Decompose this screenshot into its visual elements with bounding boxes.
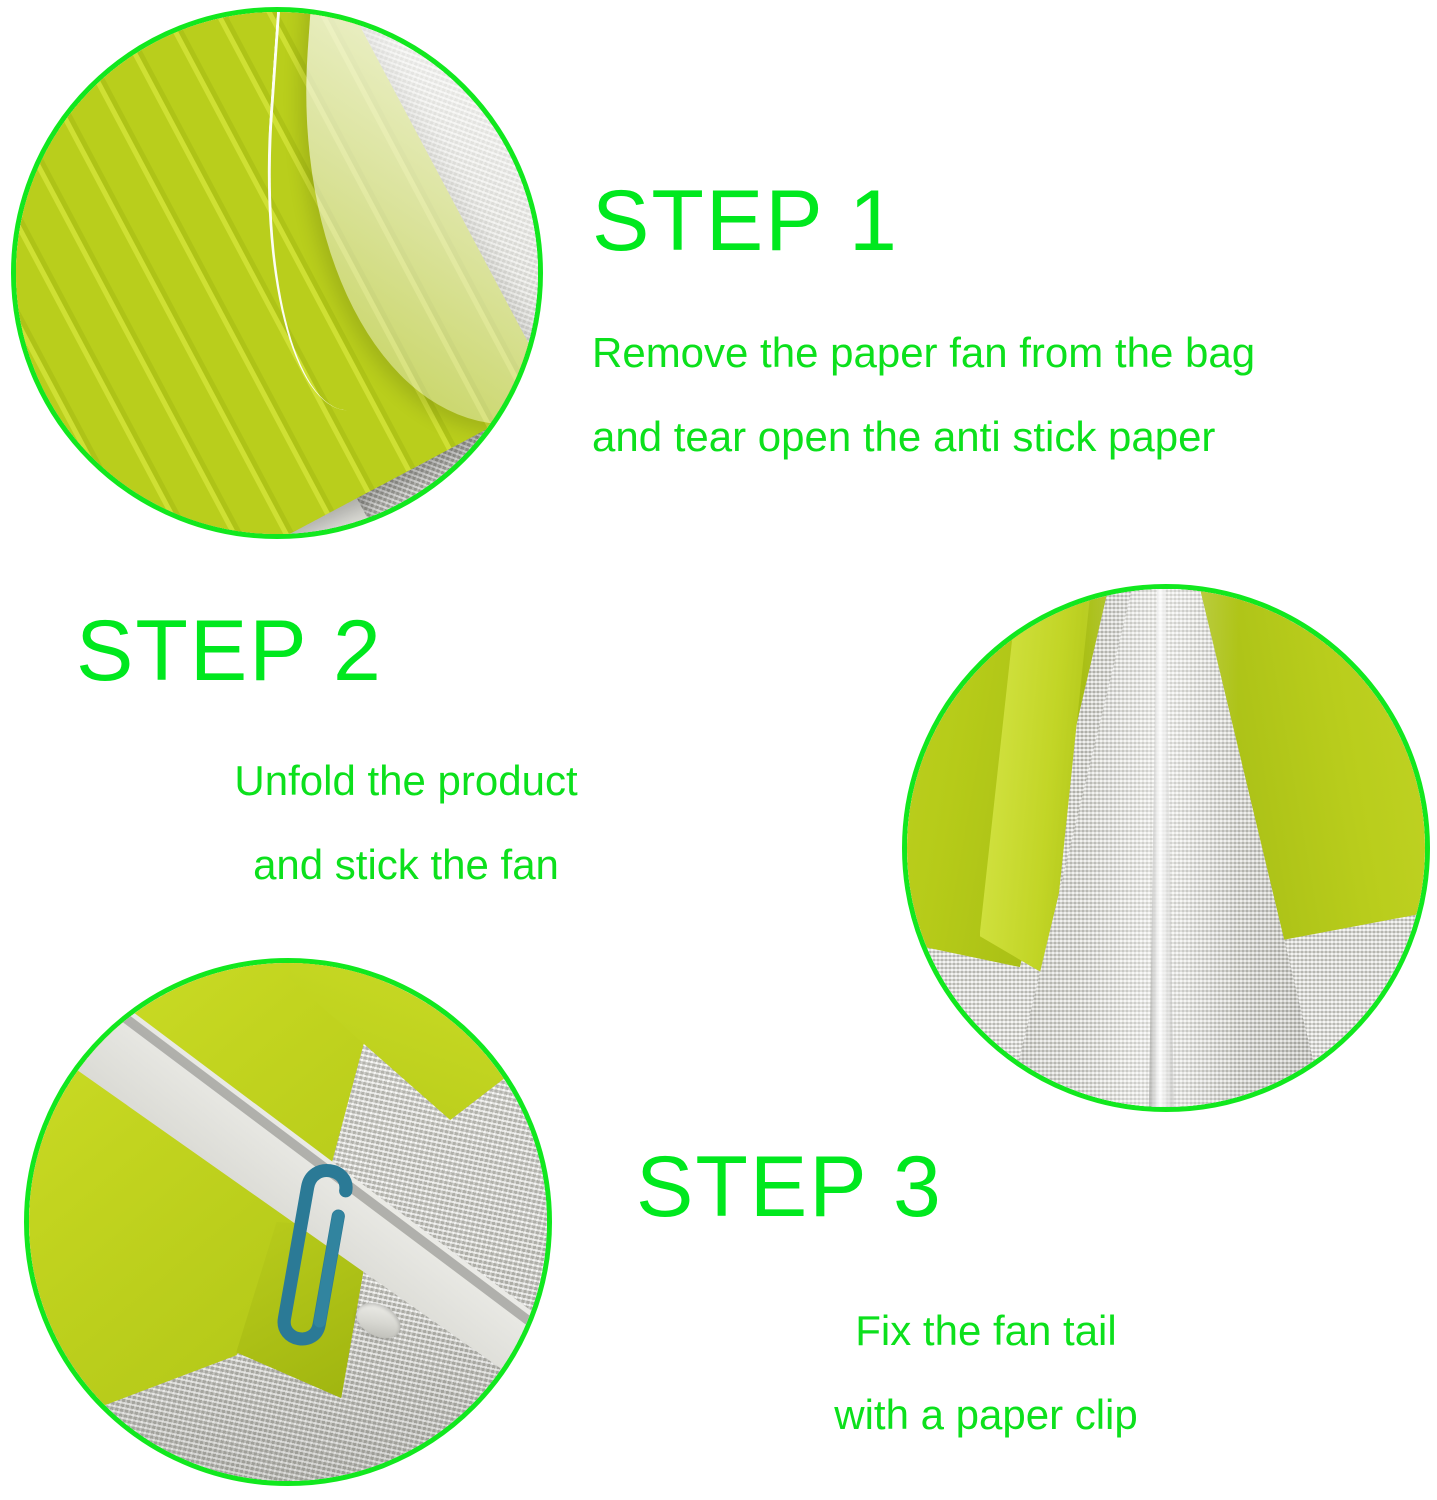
step-2-line-2: and stick the fan <box>76 844 736 886</box>
step-2-text-block: STEP 2 Unfold the product and stick the … <box>76 608 736 928</box>
step-3-line-2: with a paper clip <box>636 1394 1336 1436</box>
step-3-heading: STEP 3 <box>636 1144 1336 1230</box>
step-1-photo <box>16 12 538 534</box>
step-1-heading: STEP 1 <box>592 178 1255 264</box>
step-1-line-1: Remove the paper fan from the bag <box>592 332 1255 374</box>
step-3-photo-bubble <box>24 958 552 1486</box>
step-2-photo-bubble <box>902 584 1430 1112</box>
step-2-photo <box>907 589 1425 1107</box>
specular-highlight <box>1083 589 1238 1107</box>
step-2-line-1: Unfold the product <box>76 760 736 802</box>
step-1-photo-bubble <box>11 7 543 539</box>
step-3-line-1: Fix the fan tail <box>636 1310 1336 1352</box>
step-1-line-2: and tear open the anti stick paper <box>592 416 1255 458</box>
instruction-infographic: STEP 1 Remove the paper fan from the bag… <box>0 0 1437 1500</box>
step-1-text-block: STEP 1 Remove the paper fan from the bag… <box>592 178 1255 500</box>
step-2-heading: STEP 2 <box>76 608 736 694</box>
step-3-text-block: STEP 3 Fix the fan tail with a paper cli… <box>636 1144 1336 1478</box>
step-3-photo <box>29 963 547 1481</box>
